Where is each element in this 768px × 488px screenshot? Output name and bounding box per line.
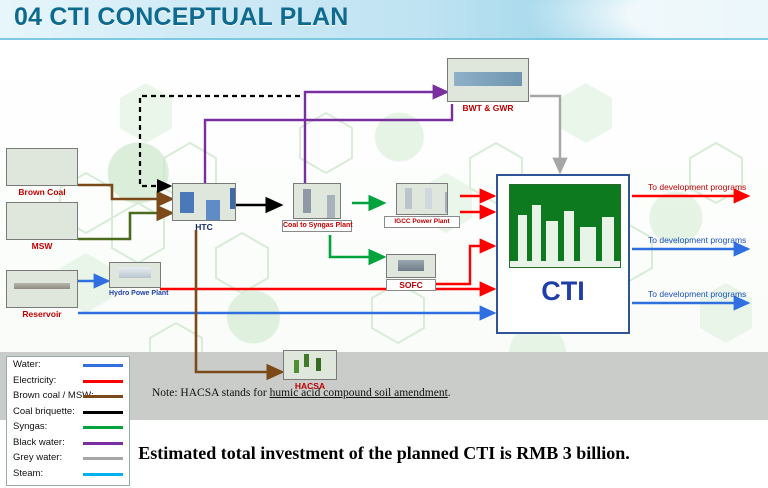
wire-htc-to-hacsa (196, 230, 282, 372)
node-syngas-label: Coal to Syngas Plant (282, 220, 352, 232)
node-reservoir[interactable]: Reservoir (6, 270, 78, 319)
legend-label: Electricity: (13, 373, 56, 389)
igcc-plant-photo (396, 183, 448, 215)
node-cti[interactable]: CTI (496, 174, 630, 334)
node-igcc-label: IGCC Power Plant (384, 216, 460, 228)
legend-swatch-coalbriquette (83, 411, 123, 414)
legend-swatch-browncoal (83, 395, 123, 398)
wire-water-return-to-htc (140, 96, 300, 186)
node-reservoir-label: Reservoir (6, 309, 78, 319)
slide-canvas: 04 CTI CONCEPTUAL PLAN (0, 0, 768, 488)
legend-swatch-electricity (83, 380, 123, 383)
node-sofc-label: SOFC (386, 279, 436, 291)
legend-label: Water: (13, 357, 41, 373)
legend-item: Syngas: (7, 419, 129, 435)
wire-htc-blackwater-up (205, 120, 300, 186)
node-brown-coal[interactable]: Brown Coal (6, 148, 78, 197)
node-coal-to-syngas-plant[interactable]: Coal to Syngas Plant (282, 183, 352, 232)
legend-swatch-syngas (83, 426, 123, 429)
node-hydro-label: Hydro Powe Plant (109, 289, 161, 299)
wire-bwt-greywater-to-cti (530, 96, 560, 172)
legend-swatch-steam (83, 473, 123, 476)
legend-item: Electricity: (7, 373, 129, 389)
water-treatment-photo (447, 58, 529, 102)
note-hacsa: Note: HACSA stands for humic acid compou… (152, 387, 451, 399)
node-msw[interactable]: MSW (6, 202, 78, 251)
node-msw-label: MSW (6, 241, 78, 251)
reservoir-photo (6, 270, 78, 308)
waste-photo (6, 202, 78, 240)
node-hacsa[interactable]: HACSA (283, 350, 337, 391)
legend-item: Water: (7, 357, 129, 373)
node-cti-label: CTI (498, 276, 628, 307)
wire-sofc-to-cti (436, 246, 494, 284)
soil-plant-photo (283, 350, 337, 380)
node-bwt-label: BWT & GWR (447, 103, 529, 113)
sofc-photo (386, 254, 436, 278)
output-label-1: To development programs (648, 182, 746, 192)
wire-syngas-to-sofc (330, 235, 384, 257)
note-underlined-term: humic acid compound soil amendment (270, 387, 448, 399)
footer-statement: Estimated total investment of the planne… (0, 443, 768, 464)
node-hydro-power-plant[interactable]: Hydro Powe Plant (109, 262, 161, 299)
legend-item: Steam: (7, 466, 129, 482)
htc-plant-photo (172, 183, 236, 221)
wire-msw-to-htc (78, 213, 172, 239)
legend-item: Brown coal / MSW: (7, 388, 129, 404)
node-bwt-gwr[interactable]: BWT & GWR (447, 58, 529, 113)
node-brown-coal-label: Brown Coal (6, 187, 78, 197)
node-igcc-power-plant[interactable]: IGCC Power Plant (384, 183, 460, 228)
hydro-plant-photo (109, 262, 161, 288)
wire-syngas-blackwater-to-bwt (305, 92, 447, 186)
legend-label: Syngas: (13, 419, 47, 435)
cti-plant-photo (509, 184, 621, 268)
wire-blackwater-bus (300, 104, 452, 120)
node-htc-label: HTC (172, 222, 236, 232)
syngas-plant-photo (293, 183, 341, 219)
legend-label: Coal briquette: (13, 404, 75, 420)
legend-label: Brown coal / MSW: (13, 388, 94, 404)
legend: Water: Electricity: Brown coal / MSW: Co… (6, 356, 130, 486)
node-sofc[interactable]: SOFC (386, 254, 436, 291)
output-label-3: To development programs (648, 289, 746, 299)
legend-swatch-water (83, 364, 123, 367)
wire-browncoal-to-htc (78, 185, 172, 199)
output-label-2: To development programs (648, 235, 746, 245)
legend-label: Steam: (13, 466, 43, 482)
note-suffix: . (448, 387, 451, 399)
legend-item: Coal briquette: (7, 404, 129, 420)
node-htc[interactable]: HTC (172, 183, 236, 232)
note-prefix: Note: HACSA stands for (152, 387, 270, 399)
coal-photo (6, 148, 78, 186)
